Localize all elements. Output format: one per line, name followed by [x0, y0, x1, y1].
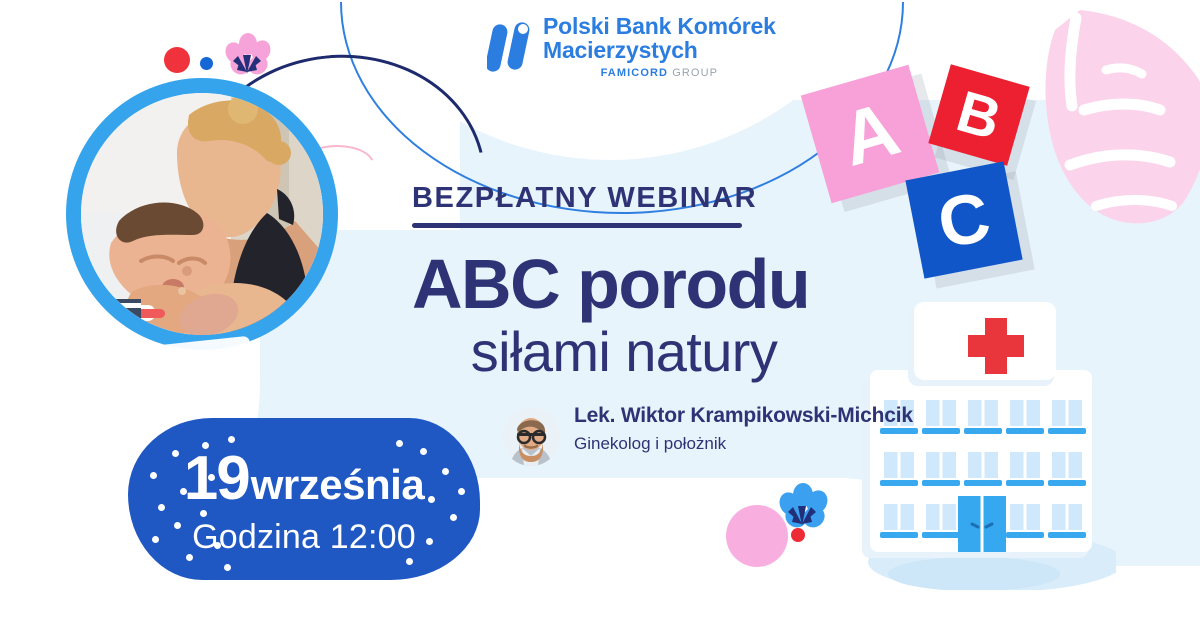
- badge-content: 19 września Godzina 12:00: [128, 418, 480, 580]
- brand-group-line: FAMICORD GROUP: [543, 68, 776, 80]
- pink-flower-burst-icon: [222, 32, 274, 82]
- speaker-role: Ginekolog i położnik: [574, 434, 913, 453]
- blue-flower-burst-icon: [776, 482, 830, 534]
- blue-dot-icon: [200, 57, 213, 70]
- badge-time: Godzina 12:00: [192, 518, 416, 557]
- brand-name-line2: Macierzystych: [543, 38, 776, 62]
- page-subtitle: siłami natury: [404, 323, 844, 382]
- letter-block-c: C: [905, 161, 1022, 278]
- speaker-name: Lek. Wiktor Krampikowski-Michcik: [574, 404, 913, 428]
- mother-newborn-photo: [81, 93, 323, 335]
- badge-month: września: [251, 464, 424, 506]
- red-dot-decoration: [791, 528, 805, 542]
- page-title: ABC porodu: [412, 250, 872, 319]
- kicker-label: BEZPŁATNY WEBINAR: [412, 182, 872, 215]
- avatar: [502, 408, 560, 466]
- photo-ring: [66, 78, 338, 350]
- kicker-underline: [412, 223, 742, 228]
- famicord-bars-logo-icon: [487, 18, 533, 74]
- brand-group-bold: FAMICORD: [601, 67, 668, 79]
- brand-group-light: GROUP: [672, 67, 718, 79]
- brand-name-line1: Polski Bank Komórek: [543, 14, 776, 38]
- headline-block: BEZPŁATNY WEBINAR ABC porodu siłami natu…: [412, 182, 872, 381]
- speaker-block: Lek. Wiktor Krampikowski-Michcik Ginekol…: [502, 404, 913, 466]
- badge-day: 19: [184, 448, 249, 510]
- date-badge: 19 września Godzina 12:00: [128, 418, 480, 580]
- webinar-poster: A B C: [0, 0, 1200, 628]
- letter-block-b: B: [928, 64, 1029, 165]
- red-dot-icon: [164, 47, 190, 73]
- brand-logo[interactable]: Polski Bank Komórek Macierzystych FAMICO…: [487, 14, 776, 80]
